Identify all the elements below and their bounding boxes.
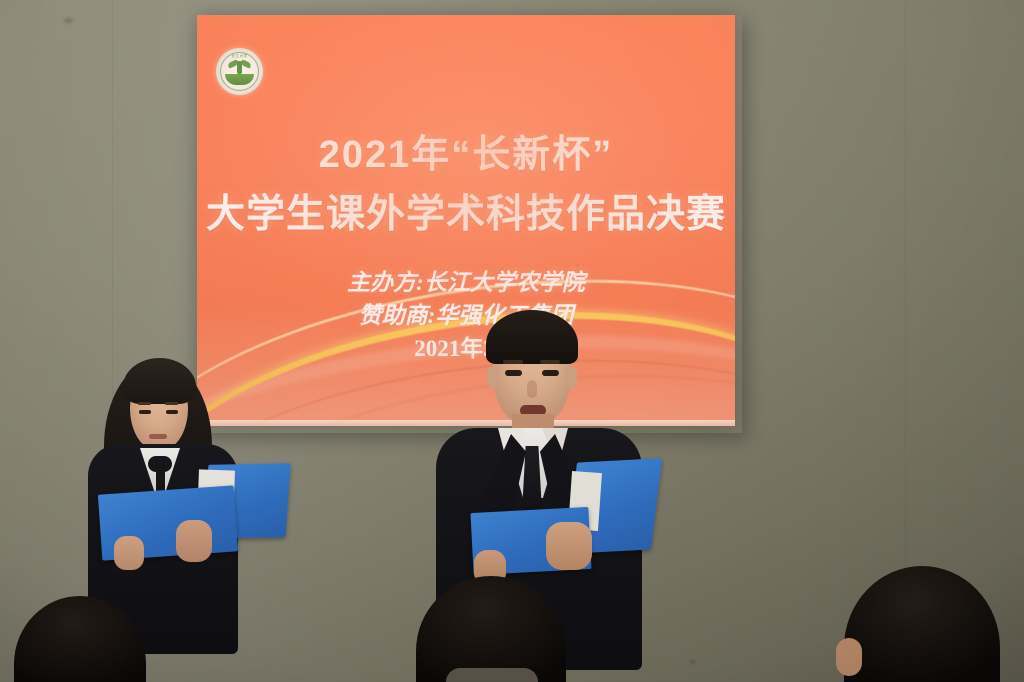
hair-fringe xyxy=(123,358,196,404)
hand-right xyxy=(176,520,212,562)
emblem-sprout-icon xyxy=(237,61,242,74)
hand-left xyxy=(114,536,144,570)
nose xyxy=(527,380,537,398)
eye-right xyxy=(542,370,559,376)
eyebrow-left xyxy=(138,402,151,405)
wall-blemish xyxy=(64,18,73,23)
emblem-text-top: 长江大学 xyxy=(216,54,263,59)
slide-title-line-1: 2021年“长新杯” xyxy=(197,123,735,178)
mouth xyxy=(149,434,167,439)
eyebrow-right xyxy=(540,360,560,364)
eye-left xyxy=(505,370,522,376)
audience-collar xyxy=(446,668,538,682)
photo-scene: 长江大学 2021年“长新杯” 大学生课外学术科技作品决赛 主办方:长江大学农学… xyxy=(0,0,1024,682)
eyebrow-right xyxy=(165,402,178,405)
university-emblem-icon: 长江大学 xyxy=(216,48,263,95)
hand-right xyxy=(546,522,592,570)
ear-left xyxy=(487,366,499,388)
wall-blemish xyxy=(690,660,696,664)
eyebrow-left xyxy=(503,360,523,364)
hair xyxy=(486,310,578,364)
slide-organizer-line: 主办方:长江大学农学院 xyxy=(197,263,735,297)
ear-right xyxy=(565,366,577,388)
audience-ear xyxy=(836,638,862,676)
slide-title-line-2: 大学生课外学术科技作品决赛 xyxy=(197,183,735,239)
eye-right xyxy=(166,410,178,414)
eye-left xyxy=(139,410,151,414)
